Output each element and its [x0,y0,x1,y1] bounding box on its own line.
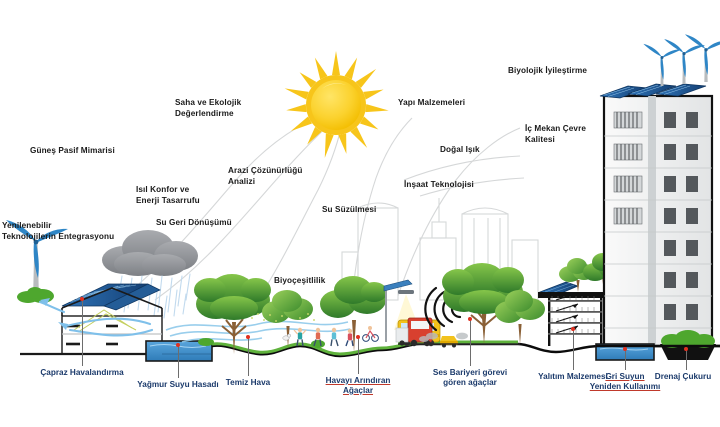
marker-drenaj-cukuru [684,347,688,351]
leader-temiz-hava [248,338,249,376]
marker-yagmur-suyu-hasadi [176,343,180,347]
label-su-suzulmesi: Su Süzülmesi [322,205,376,216]
infographic-canvas: Güneş Pasif Mimarisi Yenilenebilir Tekno… [0,0,720,427]
label-su-geri-donusumu: Su Geri Dönüşümü [156,218,232,229]
label-drenaj-cukuru: Drenaj Çukuru [646,372,720,382]
rooftop-wind-turbines [643,34,720,86]
water-ribbons [166,321,350,342]
marker-capraz-havalandirma [80,297,84,301]
leader-gri-suyun-yeniden-kullanimi [625,350,626,370]
label-ses-bariyeri-goren-agaclar: Ses Bariyeri görevi gören ağaçlar [421,368,519,388]
label-capraz-havalandirma: Çapraz Havalandırma [22,368,142,378]
label-arazi-cozunurlugu-analizi: Arazi Çözünürlüğü Analizi [228,166,302,187]
label-biyolojik-iyilestirme: Biyolojik İyileştirme [508,66,587,77]
label-temiz-hava: Temiz Hava [213,378,283,388]
label-isil-konfor-ve-enerji-tasarrufu: Isıl Konfor ve Enerji Tasarrufu [136,185,200,206]
leader-drenaj-cukuru [686,350,687,370]
label-ic-mekan-cevre-kalitesi: İç Mekan Çevre Kalitesi [525,124,586,145]
label-dogal-isik: Doğal Işık [440,145,480,156]
leader-ses-bariyeri [470,320,471,366]
marker-yalitim-malzemesi [571,327,575,331]
leader-yalitim-malzemesi [573,330,574,370]
label-gunes-pasif-mimarisi: Güneş Pasif Mimarisi [30,146,115,157]
marker-havayi-arindiran-agaclar [356,335,360,339]
leader-capraz-havalandirma [82,300,83,366]
label-havayi-arindiran-agaclar: Havayı Arındıran Ağaçlar [315,376,401,396]
label-insaat-teknolojisi: İnşaat Teknolojisi [404,180,474,191]
label-saha-ve-ekolojik-degerlendirme: Saha ve Ekolojik Değerlendirme [175,98,241,119]
marker-ses-bariyeri [468,317,472,321]
leader-yagmur-suyu-hasadi [178,346,179,378]
label-yapi-malzemeleri: Yapı Malzemeleri [398,98,465,109]
marker-gri-suyun-yeniden-kullanimi [623,347,627,351]
label-biyocesitlilik: Biyoçeşitlilik [274,276,325,287]
sun-icon [283,51,389,159]
leader-havayi-arindiran-agaclar [358,338,359,374]
marker-temiz-hava [246,335,250,339]
label-yenilenebilir-teknolojilerin-entegrasyonu: Yenilenebilir Teknolojilerin Entegrasyon… [2,221,114,242]
residential-tower [604,96,712,346]
